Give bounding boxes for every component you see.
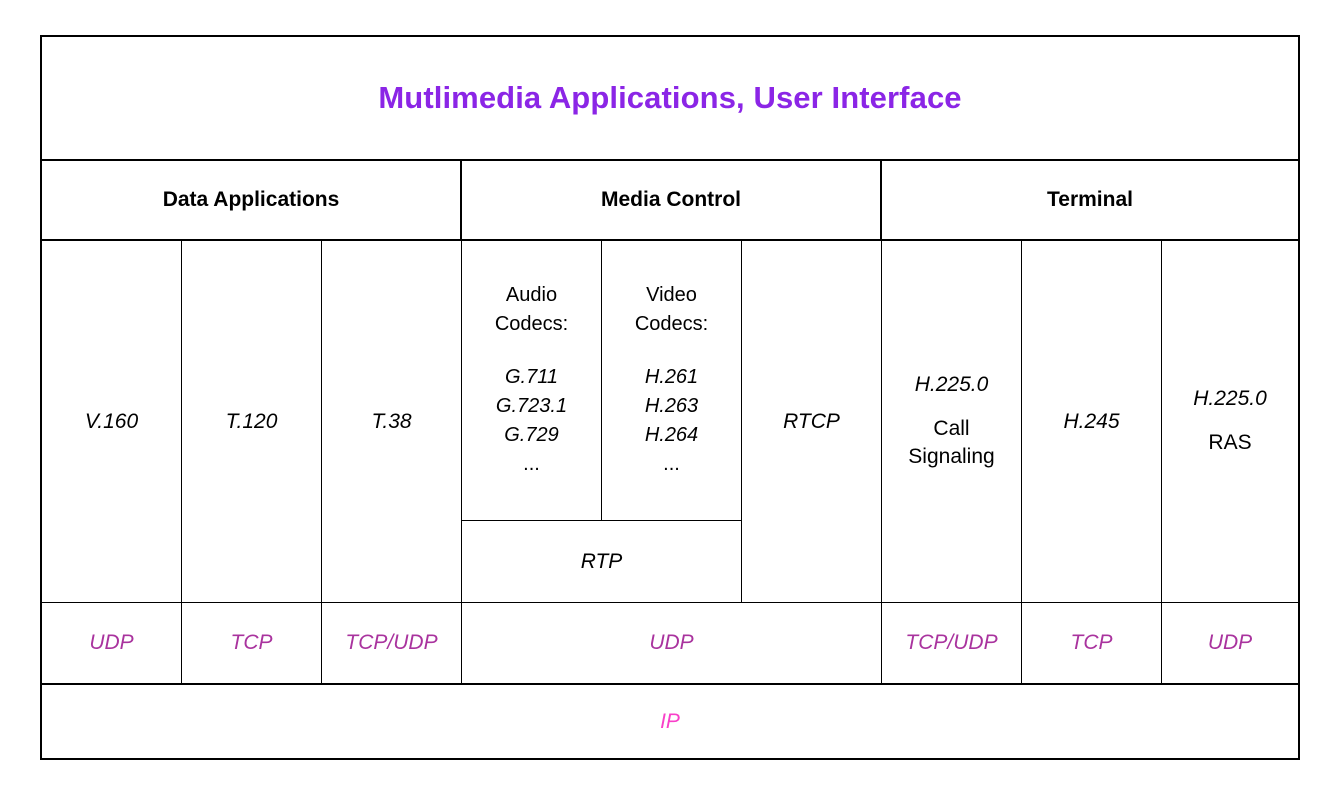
audio-codec-item: G.711 <box>505 363 558 392</box>
group-header-data-applications: Data Applications <box>42 161 462 241</box>
protocol-cell-h245: H.245 <box>1022 241 1162 603</box>
video-codec-item: H.264 <box>645 421 698 450</box>
transport-label: UDP <box>649 631 693 655</box>
audio-codec-item: G.729 <box>504 421 558 450</box>
transport-cell-tcp-h245: TCP <box>1022 603 1162 685</box>
audio-codec-item: G.723.1 <box>496 392 567 421</box>
transport-cell-tcp-t120: TCP <box>182 603 322 685</box>
transport-label: TCP <box>231 631 273 655</box>
transport-cell-udp-media: UDP <box>462 603 882 685</box>
audio-codecs-heading-line2: Codecs: <box>495 310 568 339</box>
protocol-sublabel-line2: Signaling <box>908 443 994 470</box>
transport-cell-udp-v160: UDP <box>42 603 182 685</box>
page-title: Mutlimedia Applications, User Interface <box>378 81 961 115</box>
group-header-label: Terminal <box>1047 188 1133 212</box>
protocol-sublabel-line1: Call <box>933 415 969 442</box>
video-codecs-more: ... <box>663 450 680 479</box>
transport-cell-tcpudp-t38: TCP/UDP <box>322 603 462 685</box>
protocol-cell-rtp: RTP <box>462 521 742 603</box>
group-header-terminal: Terminal <box>882 161 1298 241</box>
video-codec-item: H.261 <box>645 363 698 392</box>
protocol-cell-audio-codecs: Audio Codecs: G.711 G.723.1 G.729 ... <box>462 241 602 521</box>
transport-label: TCP/UDP <box>905 631 997 655</box>
transport-label: UDP <box>89 631 133 655</box>
protocol-label: RTP <box>581 550 623 574</box>
transport-cell-udp-ras: UDP <box>1162 603 1298 685</box>
video-codecs-heading-line2: Codecs: <box>635 310 708 339</box>
protocol-cell-video-codecs: Video Codecs: H.261 H.263 H.264 ... <box>602 241 742 521</box>
video-codecs-heading-line1: Video <box>646 281 697 310</box>
group-header-media-control: Media Control <box>462 161 882 241</box>
protocol-stack-diagram: Mutlimedia Applications, User Interface … <box>40 35 1300 760</box>
transport-label: UDP <box>1208 631 1252 655</box>
protocol-label: H.245 <box>1063 410 1119 434</box>
network-layer-label: IP <box>660 710 680 734</box>
protocol-cell-v160: V.160 <box>42 241 182 603</box>
protocol-cell-t38: T.38 <box>322 241 462 603</box>
protocol-sublabel: RAS <box>1208 429 1251 456</box>
protocol-label: T.38 <box>371 410 411 434</box>
protocol-cell-h225-call-signaling: H.225.0 Call Signaling <box>882 241 1022 603</box>
audio-codecs-more: ... <box>523 450 540 479</box>
diagram-title-row: Mutlimedia Applications, User Interface <box>42 37 1298 161</box>
protocol-label: H.225.0 <box>915 373 989 397</box>
group-header-label: Media Control <box>601 188 741 212</box>
group-header-label: Data Applications <box>163 188 340 212</box>
protocol-cell-h225-ras: H.225.0 RAS <box>1162 241 1298 603</box>
transport-label: TCP <box>1071 631 1113 655</box>
audio-codecs-heading-line1: Audio <box>506 281 557 310</box>
protocol-cell-rtcp: RTCP <box>742 241 882 603</box>
protocol-label: RTCP <box>783 410 840 434</box>
protocol-cell-t120: T.120 <box>182 241 322 603</box>
protocol-label: V.160 <box>85 410 138 434</box>
network-layer-row: IP <box>42 685 1298 758</box>
video-codec-item: H.263 <box>645 392 698 421</box>
protocol-label: H.225.0 <box>1193 387 1267 411</box>
protocol-label: T.120 <box>226 410 278 434</box>
transport-cell-tcpudp-signaling: TCP/UDP <box>882 603 1022 685</box>
transport-label: TCP/UDP <box>345 631 437 655</box>
